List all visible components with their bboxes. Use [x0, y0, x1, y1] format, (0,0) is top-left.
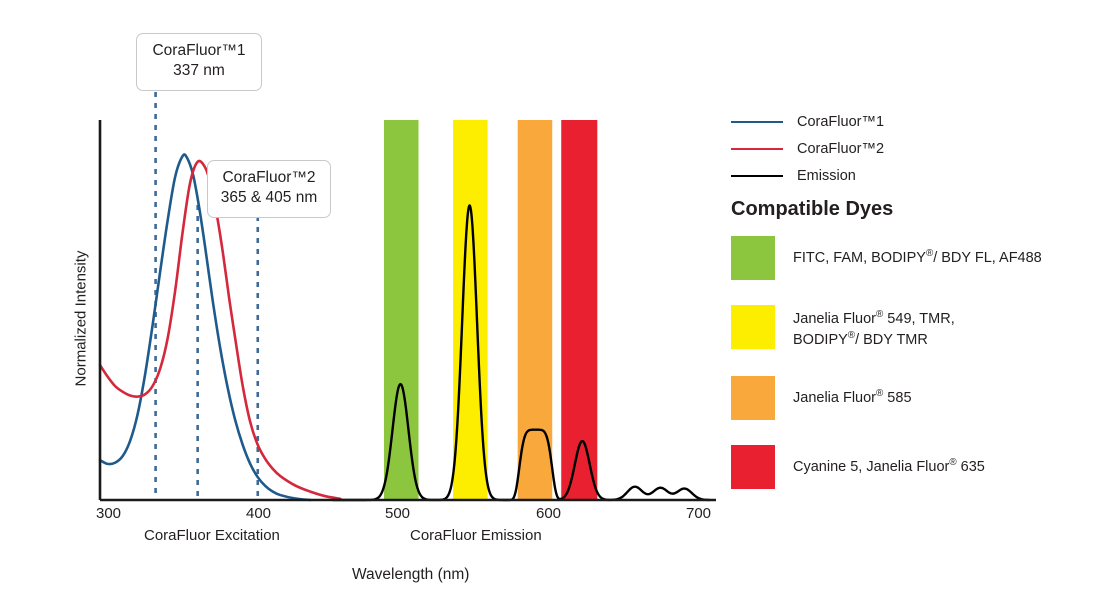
chart-root: CoraFluor™1 337 nm CoraFluor™2 365 & 405…	[0, 0, 1110, 612]
compatible-dyes-title: Compatible Dyes	[731, 198, 893, 221]
dye-item-4: Cyanine 5, Janelia Fluor® 635	[731, 445, 1106, 489]
compatible-dyes-list: FITC, FAM, BODIPY®/ BDY FL, AF488Janelia…	[731, 236, 1106, 514]
dye-band-layer	[384, 120, 597, 500]
y-axis-title: Normalized Intensity	[73, 229, 90, 409]
dye-label: Cyanine 5, Janelia Fluor® 635	[793, 445, 985, 477]
series-legend: CoraFluor™1CoraFluor™2Emission	[731, 108, 1101, 189]
legend-item-2: CoraFluor™2	[731, 135, 1101, 162]
callout-corafluor-2: CoraFluor™2 365 & 405 nm	[207, 160, 331, 218]
legend-label: CoraFluor™1	[797, 114, 884, 130]
callout-corafluor-1: CoraFluor™1 337 nm	[136, 33, 262, 91]
dye-label: FITC, FAM, BODIPY®/ BDY FL, AF488	[793, 236, 1042, 268]
xtick-400: 400	[246, 505, 271, 522]
legend-swatch-line	[731, 148, 783, 150]
dye-band-1	[384, 120, 419, 500]
legend-swatch-line	[731, 121, 783, 123]
x-axis-title: Wavelength (nm)	[352, 566, 469, 584]
region-label-excitation: CoraFluor Excitation	[144, 527, 280, 544]
dye-color-swatch	[731, 445, 775, 489]
legend-swatch-line	[731, 175, 783, 177]
dye-color-swatch	[731, 305, 775, 349]
legend-item-3: Emission	[731, 162, 1101, 189]
dye-color-swatch	[731, 236, 775, 280]
dye-item-3: Janelia Fluor® 585	[731, 376, 1106, 420]
dye-item-1: FITC, FAM, BODIPY®/ BDY FL, AF488	[731, 236, 1106, 280]
legend-item-1: CoraFluor™1	[731, 108, 1101, 135]
dye-color-swatch	[731, 376, 775, 420]
dye-item-2: Janelia Fluor® 549, TMR,BODIPY®/ BDY TMR	[731, 305, 1106, 351]
legend-label: Emission	[797, 168, 856, 184]
region-label-emission: CoraFluor Emission	[410, 527, 542, 544]
xtick-600: 600	[536, 505, 561, 522]
callout-2-line2: 365 & 405 nm	[218, 188, 320, 208]
excitation-marker-lines	[156, 92, 258, 500]
xtick-300: 300	[96, 505, 121, 522]
dye-label: Janelia Fluor® 585	[793, 376, 912, 408]
xtick-700: 700	[686, 505, 711, 522]
dye-label: Janelia Fluor® 549, TMR,BODIPY®/ BDY TMR	[793, 305, 955, 351]
callout-1-line2: 337 nm	[147, 61, 251, 81]
callout-1-line1: CoraFluor™1	[152, 42, 245, 59]
xtick-500: 500	[385, 505, 410, 522]
callout-2-line1: CoraFluor™2	[222, 169, 315, 186]
legend-label: CoraFluor™2	[797, 141, 884, 157]
